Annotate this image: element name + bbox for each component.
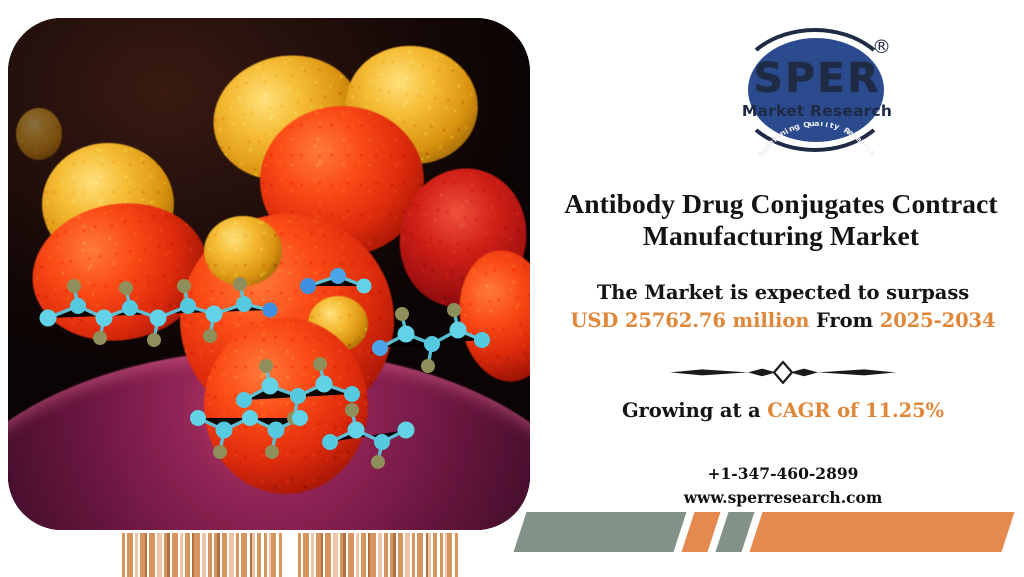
barcode-strip: [122, 533, 282, 577]
barcode-bar: [455, 533, 458, 577]
hero-image-panel: [8, 18, 530, 530]
marketing-poster: SPER Market Research Redefining Quality …: [0, 0, 1024, 577]
ornamental-divider: [552, 360, 1014, 384]
contact-phone[interactable]: +1-347-460-2899: [708, 464, 859, 483]
cagr-value: 11.25%: [865, 399, 944, 422]
brand-logo: SPER Market Research Redefining Quality …: [530, 24, 1024, 160]
logo-subtitle: Market Research: [722, 102, 912, 120]
content-column: SPER Market Research Redefining Quality …: [530, 0, 1024, 577]
decorative-barcode-group: [0, 531, 1024, 577]
report-title: Antibody Drug Conjugates Contract Manufa…: [538, 188, 1024, 252]
logo-tagline-arc: Redefining Quality Research: [752, 122, 882, 156]
forecast-period: 2025-2034: [880, 309, 996, 332]
cagr-lead: Growing at a: [622, 399, 761, 422]
market-statement: The Market is expected to surpass USD 25…: [548, 279, 1018, 334]
market-value: USD 25762.76 million: [571, 309, 810, 332]
statement-mid: From: [816, 309, 873, 332]
barcode-strip: [298, 533, 458, 577]
barcode-bar: [279, 533, 282, 577]
registered-trademark-icon: ®: [872, 36, 891, 58]
statement-lead: The Market is expected to surpass: [597, 281, 969, 304]
cagr-label: CAGR of: [767, 399, 858, 422]
logo-wordmark: SPER: [722, 58, 912, 99]
cagr-statement: Growing at a CAGR of 11.25%: [548, 399, 1018, 422]
drug-payload-molecules: [8, 18, 530, 530]
